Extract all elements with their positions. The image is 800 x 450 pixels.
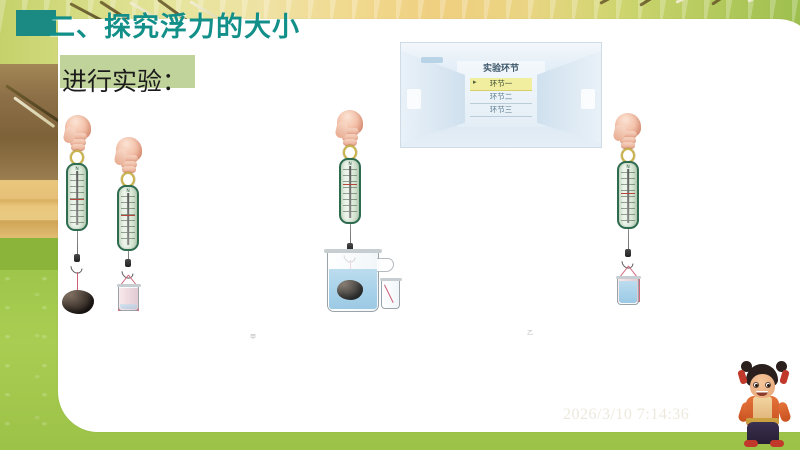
scale-pointer <box>121 215 135 216</box>
video-menu-item-2[interactable]: 环节二 <box>470 91 532 104</box>
experiment-video-thumbnail[interactable]: 实验环节 环节一 环节二 环节三 <box>401 43 601 147</box>
mascot-shoe <box>744 440 758 447</box>
hand-icon <box>63 115 93 153</box>
scale-pointer <box>621 193 635 194</box>
video-menu-item-3[interactable]: 环节三 <box>470 104 532 117</box>
scale-rod <box>127 193 129 245</box>
scale-rod <box>349 166 351 218</box>
beaker-water <box>120 304 137 309</box>
leaf-stroke-icon <box>747 0 787 3</box>
scale-rod <box>627 169 629 223</box>
hand-icon <box>335 110 365 148</box>
beaker-water <box>619 281 637 303</box>
mascot-character <box>736 360 794 448</box>
beaker-lip <box>324 249 382 253</box>
mascot-pupil <box>755 384 758 387</box>
hand-icon <box>613 113 643 151</box>
rock-object-submerged <box>337 280 363 300</box>
scale-thread <box>628 229 629 251</box>
hand-icon <box>114 137 144 175</box>
empty-beaker <box>118 287 139 311</box>
scale-pointer <box>343 184 357 185</box>
spring-scale: N <box>66 163 88 231</box>
faint-label-right: 乙 <box>527 328 533 337</box>
page-title: 二、探究浮力的大小 <box>48 5 300 44</box>
beaker-spout <box>377 258 394 272</box>
video-room-panel <box>407 89 421 109</box>
faint-label-left: 甲 <box>250 332 256 341</box>
spring-scale: N <box>339 158 361 224</box>
beaker-lip <box>117 284 141 287</box>
beaker-lip <box>380 278 402 281</box>
spring-scale: N <box>617 161 639 229</box>
leaf-stroke-icon <box>639 0 678 7</box>
video-menu-item-1[interactable]: 环节一 <box>470 78 532 91</box>
scale-thread <box>77 231 78 256</box>
video-room-panel <box>581 89 595 109</box>
rock-object <box>62 290 94 314</box>
scale-thread <box>350 224 351 245</box>
video-heading: 实验环节 <box>401 61 601 74</box>
beaker-lip <box>616 276 641 279</box>
mascot-shoe <box>770 440 784 447</box>
scale-pointer <box>70 199 84 200</box>
subtitle-text: 进行实验： <box>62 62 187 98</box>
mascot-pupil <box>767 384 770 387</box>
scale-rod <box>76 171 78 225</box>
water-filled-beaker <box>617 279 639 305</box>
spring-scale: N <box>117 185 139 251</box>
timestamp: 2026/3/10 7:14:36 <box>563 406 689 424</box>
